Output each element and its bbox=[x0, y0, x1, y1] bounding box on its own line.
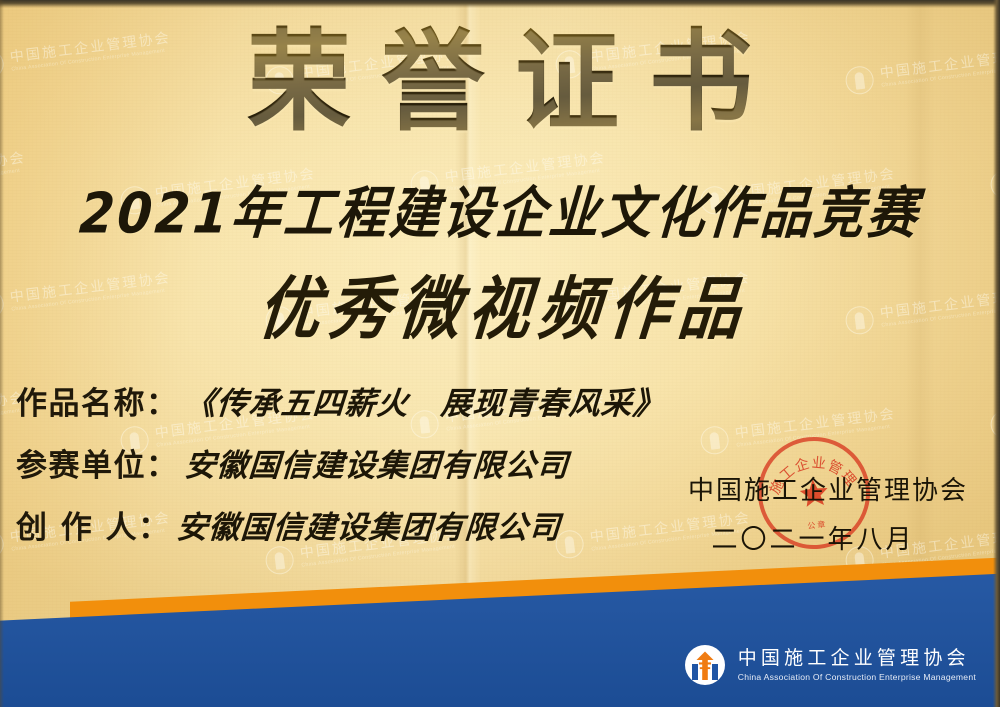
award-category: 优秀微视频作品 bbox=[247, 254, 754, 353]
certificate-title-block: 荣誉证书 bbox=[0, 26, 1000, 138]
competition-subtitle-block: 2021年工程建设企业文化作品竞赛 bbox=[0, 173, 1000, 245]
detail-row: 参赛单位： 安徽国信建设集团有限公司 bbox=[16, 440, 716, 486]
association-logo-text: 中国施工企业管理协会 China Association Of Construc… bbox=[738, 649, 976, 682]
association-name-en: China Association Of Construction Enterp… bbox=[738, 673, 976, 682]
creator-value: 安徽国信建设集团有限公司 bbox=[175, 502, 562, 547]
certificate-title: 荣誉证书 bbox=[217, 23, 783, 142]
issue-date: 二〇二一年八月 bbox=[688, 519, 938, 556]
association-name-cn: 中国施工企业管理协会 bbox=[738, 649, 976, 668]
competition-subtitle: 2021年工程建设企业文化作品竞赛 bbox=[77, 169, 923, 250]
work-name-value: 《传承五四薪火 展现青春风采》 bbox=[183, 378, 666, 423]
award-category-block: 优秀微视频作品 bbox=[0, 258, 1000, 348]
association-logo-icon bbox=[685, 645, 725, 685]
scan-edge-left bbox=[0, 0, 4, 707]
participating-unit-label: 参赛单位： bbox=[16, 440, 179, 485]
scan-edge-top bbox=[0, 0, 1000, 8]
detail-row: 创 作 人： 安徽国信建设集团有限公司 bbox=[16, 502, 716, 548]
certificate-page: 中国施工企业管理协会China Association Of Construct… bbox=[0, 0, 1000, 707]
association-footer-logo: 中国施工企业管理协会 China Association Of Construc… bbox=[685, 645, 976, 685]
work-name-label: 作品名称： bbox=[16, 378, 179, 423]
participating-unit-value: 安徽国信建设集团有限公司 bbox=[183, 440, 570, 485]
issuer-organization: 中国施工企业管理协会 bbox=[688, 470, 938, 507]
certificate-details: 作品名称： 《传承五四薪火 展现青春风采》 参赛单位： 安徽国信建设集团有限公司… bbox=[16, 378, 716, 564]
creator-label: 创 作 人： bbox=[16, 502, 171, 547]
issuer-block: 中国施工企业管理协会 二〇二一年八月 bbox=[688, 470, 938, 556]
detail-row: 作品名称： 《传承五四薪火 展现青春风采》 bbox=[16, 378, 716, 424]
scan-edge-right bbox=[993, 0, 1000, 707]
